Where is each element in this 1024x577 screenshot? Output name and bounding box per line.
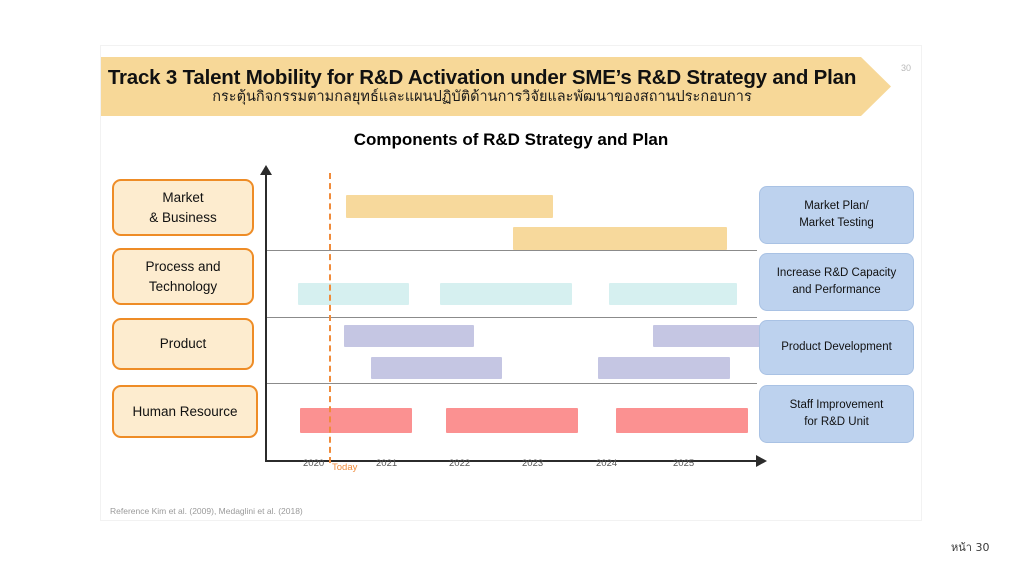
- header-banner: Track 3 Talent Mobility for R&D Activati…: [101, 57, 891, 116]
- outcome-label: Staff Improvement for R&D Unit: [790, 397, 884, 430]
- bar-process-technology-3: [609, 283, 737, 305]
- x-tick-2020: 2020: [303, 458, 324, 469]
- row-separator: [267, 250, 757, 251]
- y-axis-arrow-icon: [260, 165, 272, 175]
- bar-process-technology-1: [298, 283, 409, 305]
- category-label-line2: & Business: [149, 210, 217, 225]
- bar-human-resource-3: [616, 408, 748, 433]
- banner-subtitle-thai: กระตุ้นกิจกรรมตามกลยุทธ์และแผนปฏิบัติด้า…: [212, 90, 752, 106]
- bar-human-resource-1: [300, 408, 412, 433]
- category-label-line2: Technology: [149, 279, 217, 294]
- today-marker-line: [329, 173, 331, 463]
- bar-process-technology-2: [440, 283, 572, 305]
- today-marker-label: Today: [332, 462, 357, 473]
- outcome-label-line1: Market Plan/: [804, 200, 869, 212]
- outcome-box-product-development[interactable]: Product Development: [759, 320, 914, 375]
- row-separator: [267, 317, 757, 318]
- bar-product-3: [371, 357, 502, 379]
- category-label-line1: Product: [160, 334, 207, 354]
- outcome-label-line1: Staff Improvement: [790, 399, 884, 411]
- outcome-label-line2: Market Testing: [799, 217, 874, 229]
- category-label: Process and Technology: [145, 257, 220, 296]
- x-tick-2024: 2024: [596, 458, 617, 469]
- page-number-top: 30: [901, 63, 911, 73]
- page-number-bottom: หน้า 30: [951, 538, 989, 556]
- bar-market-business-1: [346, 195, 553, 218]
- reference-note: Reference Kim et al. (2009), Medaglini e…: [110, 506, 303, 516]
- banner-title: Track 3 Talent Mobility for R&D Activati…: [108, 67, 856, 89]
- gantt-chart: Market & Business Process and Technology…: [101, 165, 921, 480]
- banner-text-block: Track 3 Talent Mobility for R&D Activati…: [101, 57, 863, 116]
- outcome-label: Increase R&D Capacity and Performance: [777, 265, 897, 298]
- outcome-label-line1: Increase R&D Capacity: [777, 267, 897, 279]
- outcome-box-staff-improvement[interactable]: Staff Improvement for R&D Unit: [759, 385, 914, 443]
- x-tick-2022: 2022: [449, 458, 470, 469]
- outcome-box-increase-rd-capacity[interactable]: Increase R&D Capacity and Performance: [759, 253, 914, 311]
- outcome-label: Market Plan/ Market Testing: [799, 198, 874, 231]
- category-box-process-technology[interactable]: Process and Technology: [112, 248, 254, 305]
- slide: Track 3 Talent Mobility for R&D Activati…: [0, 0, 1024, 577]
- outcome-box-market-plan[interactable]: Market Plan/ Market Testing: [759, 186, 914, 244]
- bar-human-resource-2: [446, 408, 578, 433]
- bar-product-1: [344, 325, 474, 347]
- x-tick-2021: 2021: [376, 458, 397, 469]
- category-box-human-resource[interactable]: Human Resource: [112, 385, 258, 438]
- x-tick-2023: 2023: [522, 458, 543, 469]
- category-label-line1: Market: [162, 190, 203, 205]
- category-box-market-business[interactable]: Market & Business: [112, 179, 254, 236]
- category-box-product[interactable]: Product: [112, 318, 254, 370]
- x-tick-2025: 2025: [673, 458, 694, 469]
- category-label-line1: Process and: [145, 259, 220, 274]
- chart-title: Components of R&D Strategy and Plan: [101, 130, 921, 150]
- outcome-label-line2: and Performance: [792, 284, 880, 296]
- category-label: Market & Business: [149, 188, 217, 227]
- row-separator: [267, 383, 757, 384]
- bar-product-4: [598, 357, 730, 379]
- outcome-label-line2: for R&D Unit: [804, 416, 869, 428]
- outcome-label-line1: Product Development: [781, 339, 892, 356]
- x-axis-arrow-icon: [756, 455, 767, 467]
- bar-market-business-2: [513, 227, 727, 250]
- category-label-line1: Human Resource: [132, 402, 237, 422]
